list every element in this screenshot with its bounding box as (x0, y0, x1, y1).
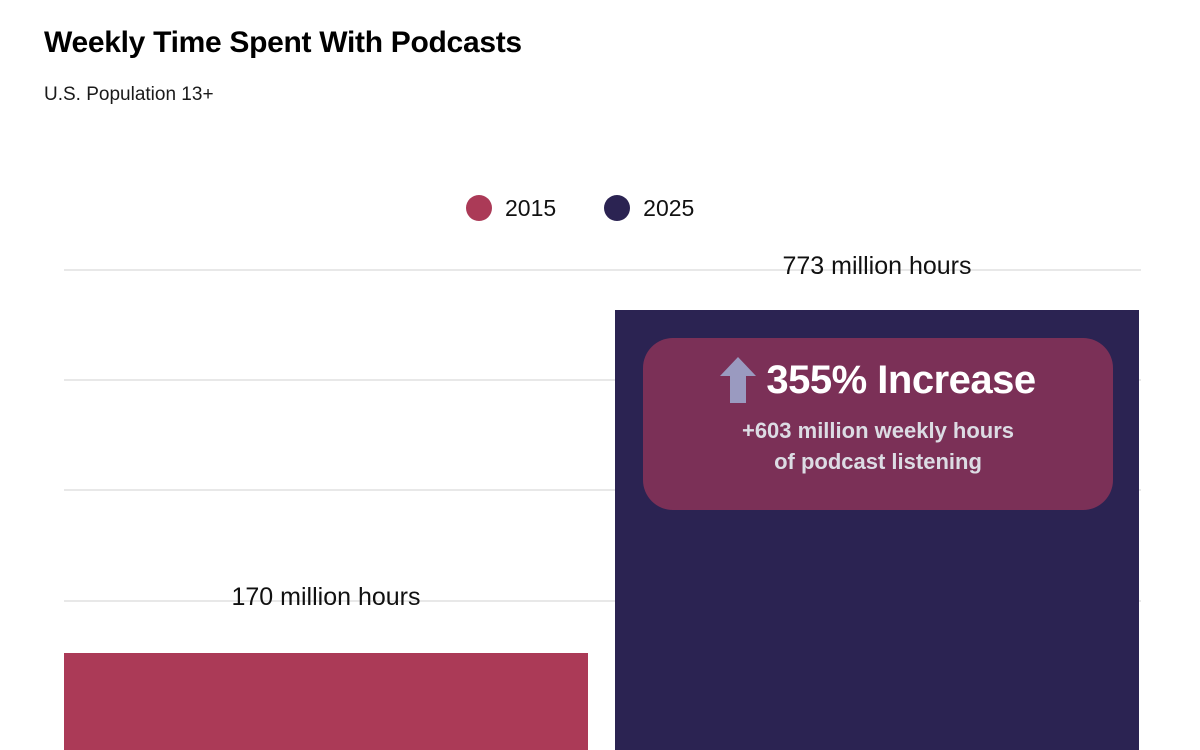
arrow-up-icon (720, 357, 756, 403)
legend-item-2015[interactable]: 2015 (466, 195, 556, 222)
legend-item-2025[interactable]: 2025 (604, 195, 694, 222)
bar-value-label-2015: 170 million hours (64, 583, 588, 612)
callout-subtext: +603 million weekly hours of podcast lis… (742, 415, 1014, 477)
increase-callout: 355% Increase +603 million weekly hours … (643, 338, 1113, 510)
circle-swatch-icon (604, 195, 630, 221)
chart-figure: Weekly Time Spent With Podcasts U.S. Pop… (0, 0, 1200, 750)
callout-headline: 355% Increase (766, 358, 1035, 403)
circle-swatch-icon (466, 195, 492, 221)
chart-legend: 2015 2025 (466, 192, 694, 224)
bar-2015[interactable] (64, 653, 588, 750)
callout-headline-row: 355% Increase (720, 357, 1035, 403)
legend-label-2015: 2015 (505, 195, 556, 222)
page-title: Weekly Time Spent With Podcasts (44, 26, 522, 60)
bar-value-label-2025: 773 million hours (615, 252, 1139, 281)
legend-label-2025: 2025 (643, 195, 694, 222)
chart-subtitle: U.S. Population 13+ (44, 84, 214, 106)
